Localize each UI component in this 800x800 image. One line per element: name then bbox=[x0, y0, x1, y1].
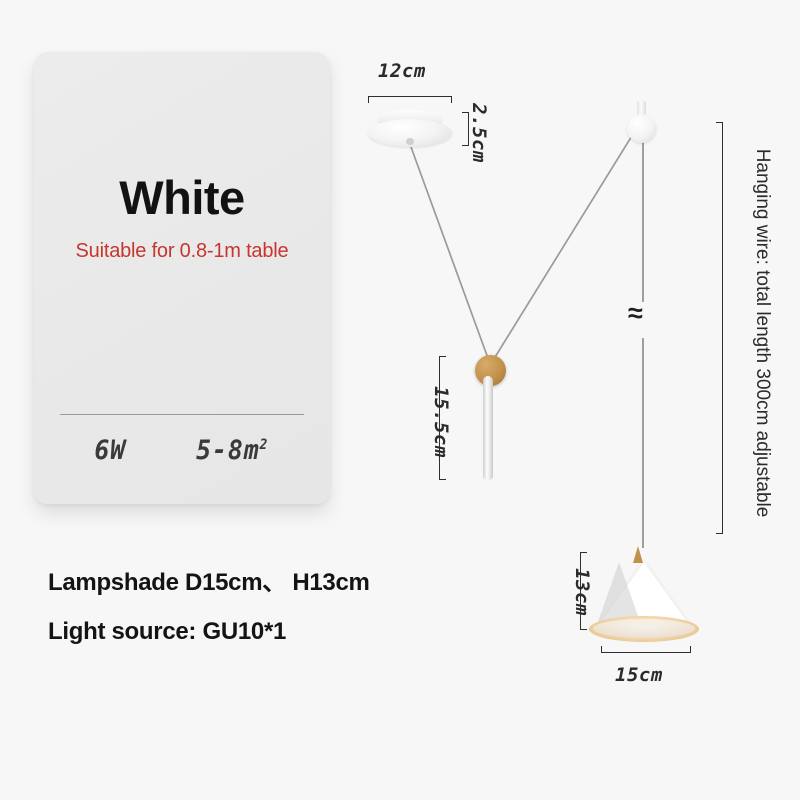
stat-wattage-value: 6W bbox=[94, 435, 126, 466]
dim-label-canopy-height: 2.5cm bbox=[468, 103, 490, 163]
stat-coverage-value: 5-8m bbox=[196, 435, 260, 466]
spec-card: White Suitable for 0.8-1m table 6W 5-8m2 bbox=[34, 52, 330, 504]
stat-coverage-superscript: 2 bbox=[259, 437, 268, 453]
color-variant-title: White bbox=[34, 170, 330, 225]
card-divider bbox=[60, 414, 304, 415]
product-spec-illustration: White Suitable for 0.8-1m table 6W 5-8m2… bbox=[0, 0, 800, 800]
stat-wattage: 6W bbox=[94, 435, 126, 466]
bracket-hanging-wire bbox=[716, 122, 723, 534]
white-counterweight-rod bbox=[483, 376, 493, 480]
bracket-canopy-diameter bbox=[368, 96, 452, 103]
lampshade-brass-cap bbox=[633, 546, 643, 563]
lampshade-spec-line: Lampshade D15cm、 H13cm bbox=[48, 562, 370, 597]
dim-label-rod-assembly-length: 15.5cm bbox=[430, 374, 452, 470]
stat-coverage: 5-8m2 bbox=[196, 435, 268, 466]
cone-lampshade bbox=[595, 562, 693, 630]
suitability-note: Suitable for 0.8-1m table bbox=[34, 240, 330, 263]
dim-label-shade-height: 13cm bbox=[571, 550, 593, 634]
light-source-spec-line: Light source: GU10*1 bbox=[48, 618, 286, 646]
dim-label-canopy-diameter: 12cm bbox=[378, 60, 426, 82]
dim-label-shade-diameter: 15cm bbox=[615, 664, 663, 686]
wire-pivot-to-pulley bbox=[492, 126, 638, 362]
dim-label-hanging-wire: Hanging wire: total length 300cm adjusta… bbox=[751, 133, 773, 533]
bracket-shade-diameter bbox=[601, 646, 691, 653]
lampshade-rim bbox=[593, 619, 695, 638]
wire-break-icon: ≈ bbox=[628, 300, 643, 327]
canopy-wire-outlet bbox=[406, 138, 414, 145]
pulley-wheel bbox=[627, 114, 656, 143]
card-stats-row: 6W 5-8m2 bbox=[60, 435, 304, 466]
ceiling-canopy bbox=[368, 110, 452, 152]
wire-canopy-to-pivot bbox=[411, 147, 489, 361]
